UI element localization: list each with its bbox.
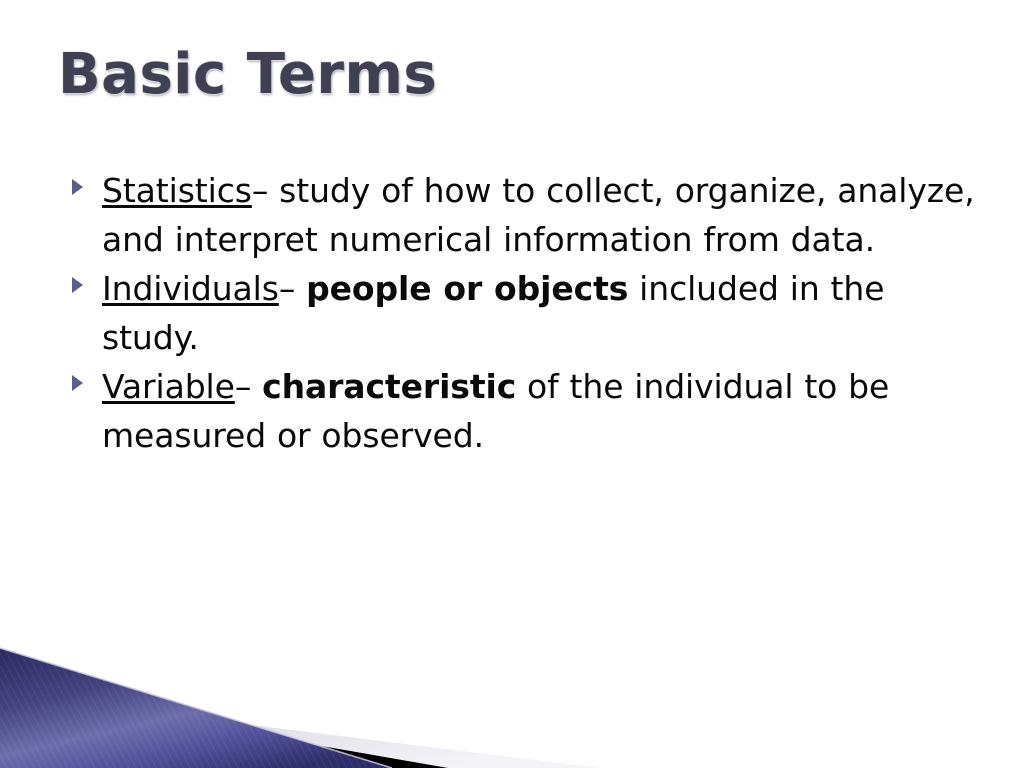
- navy-triangle-shape: [0, 648, 392, 768]
- term-label: Variable: [102, 367, 235, 406]
- term-dash: –: [252, 171, 279, 210]
- term-dash: –: [235, 367, 262, 406]
- term-label: Individuals: [102, 269, 279, 308]
- slide: Basic Terms Statistics– study of how to …: [0, 0, 1024, 768]
- term-label: Statistics: [102, 171, 252, 210]
- corner-decoration-graphic: [0, 628, 640, 768]
- list-item: Individuals– people or objects included …: [66, 264, 986, 362]
- gray-band-shape: [0, 694, 600, 768]
- black-stripe-shape: [0, 690, 448, 768]
- bullet-text: Variable– characteristic of the individu…: [102, 367, 889, 455]
- navy-edge-highlight: [0, 648, 392, 768]
- list-item: Variable– characteristic of the individu…: [66, 362, 986, 460]
- emphasis-text: characteristic: [262, 367, 516, 406]
- triangle-bullet-icon: [72, 277, 83, 293]
- term-dash: –: [279, 269, 306, 308]
- triangle-bullet-icon: [72, 375, 83, 391]
- emphasis-text: people or objects: [306, 269, 628, 308]
- bullet-list: Statistics– study of how to collect, org…: [66, 166, 986, 460]
- page-title: Basic Terms: [58, 46, 437, 105]
- triangle-bullet-icon: [72, 179, 83, 195]
- list-item: Statistics– study of how to collect, org…: [66, 166, 986, 264]
- navy-triangle-texture: [0, 648, 392, 768]
- corner-decoration: [0, 628, 640, 768]
- bullet-text: Individuals– people or objects included …: [102, 269, 884, 357]
- bullet-text: Statistics– study of how to collect, org…: [102, 171, 975, 259]
